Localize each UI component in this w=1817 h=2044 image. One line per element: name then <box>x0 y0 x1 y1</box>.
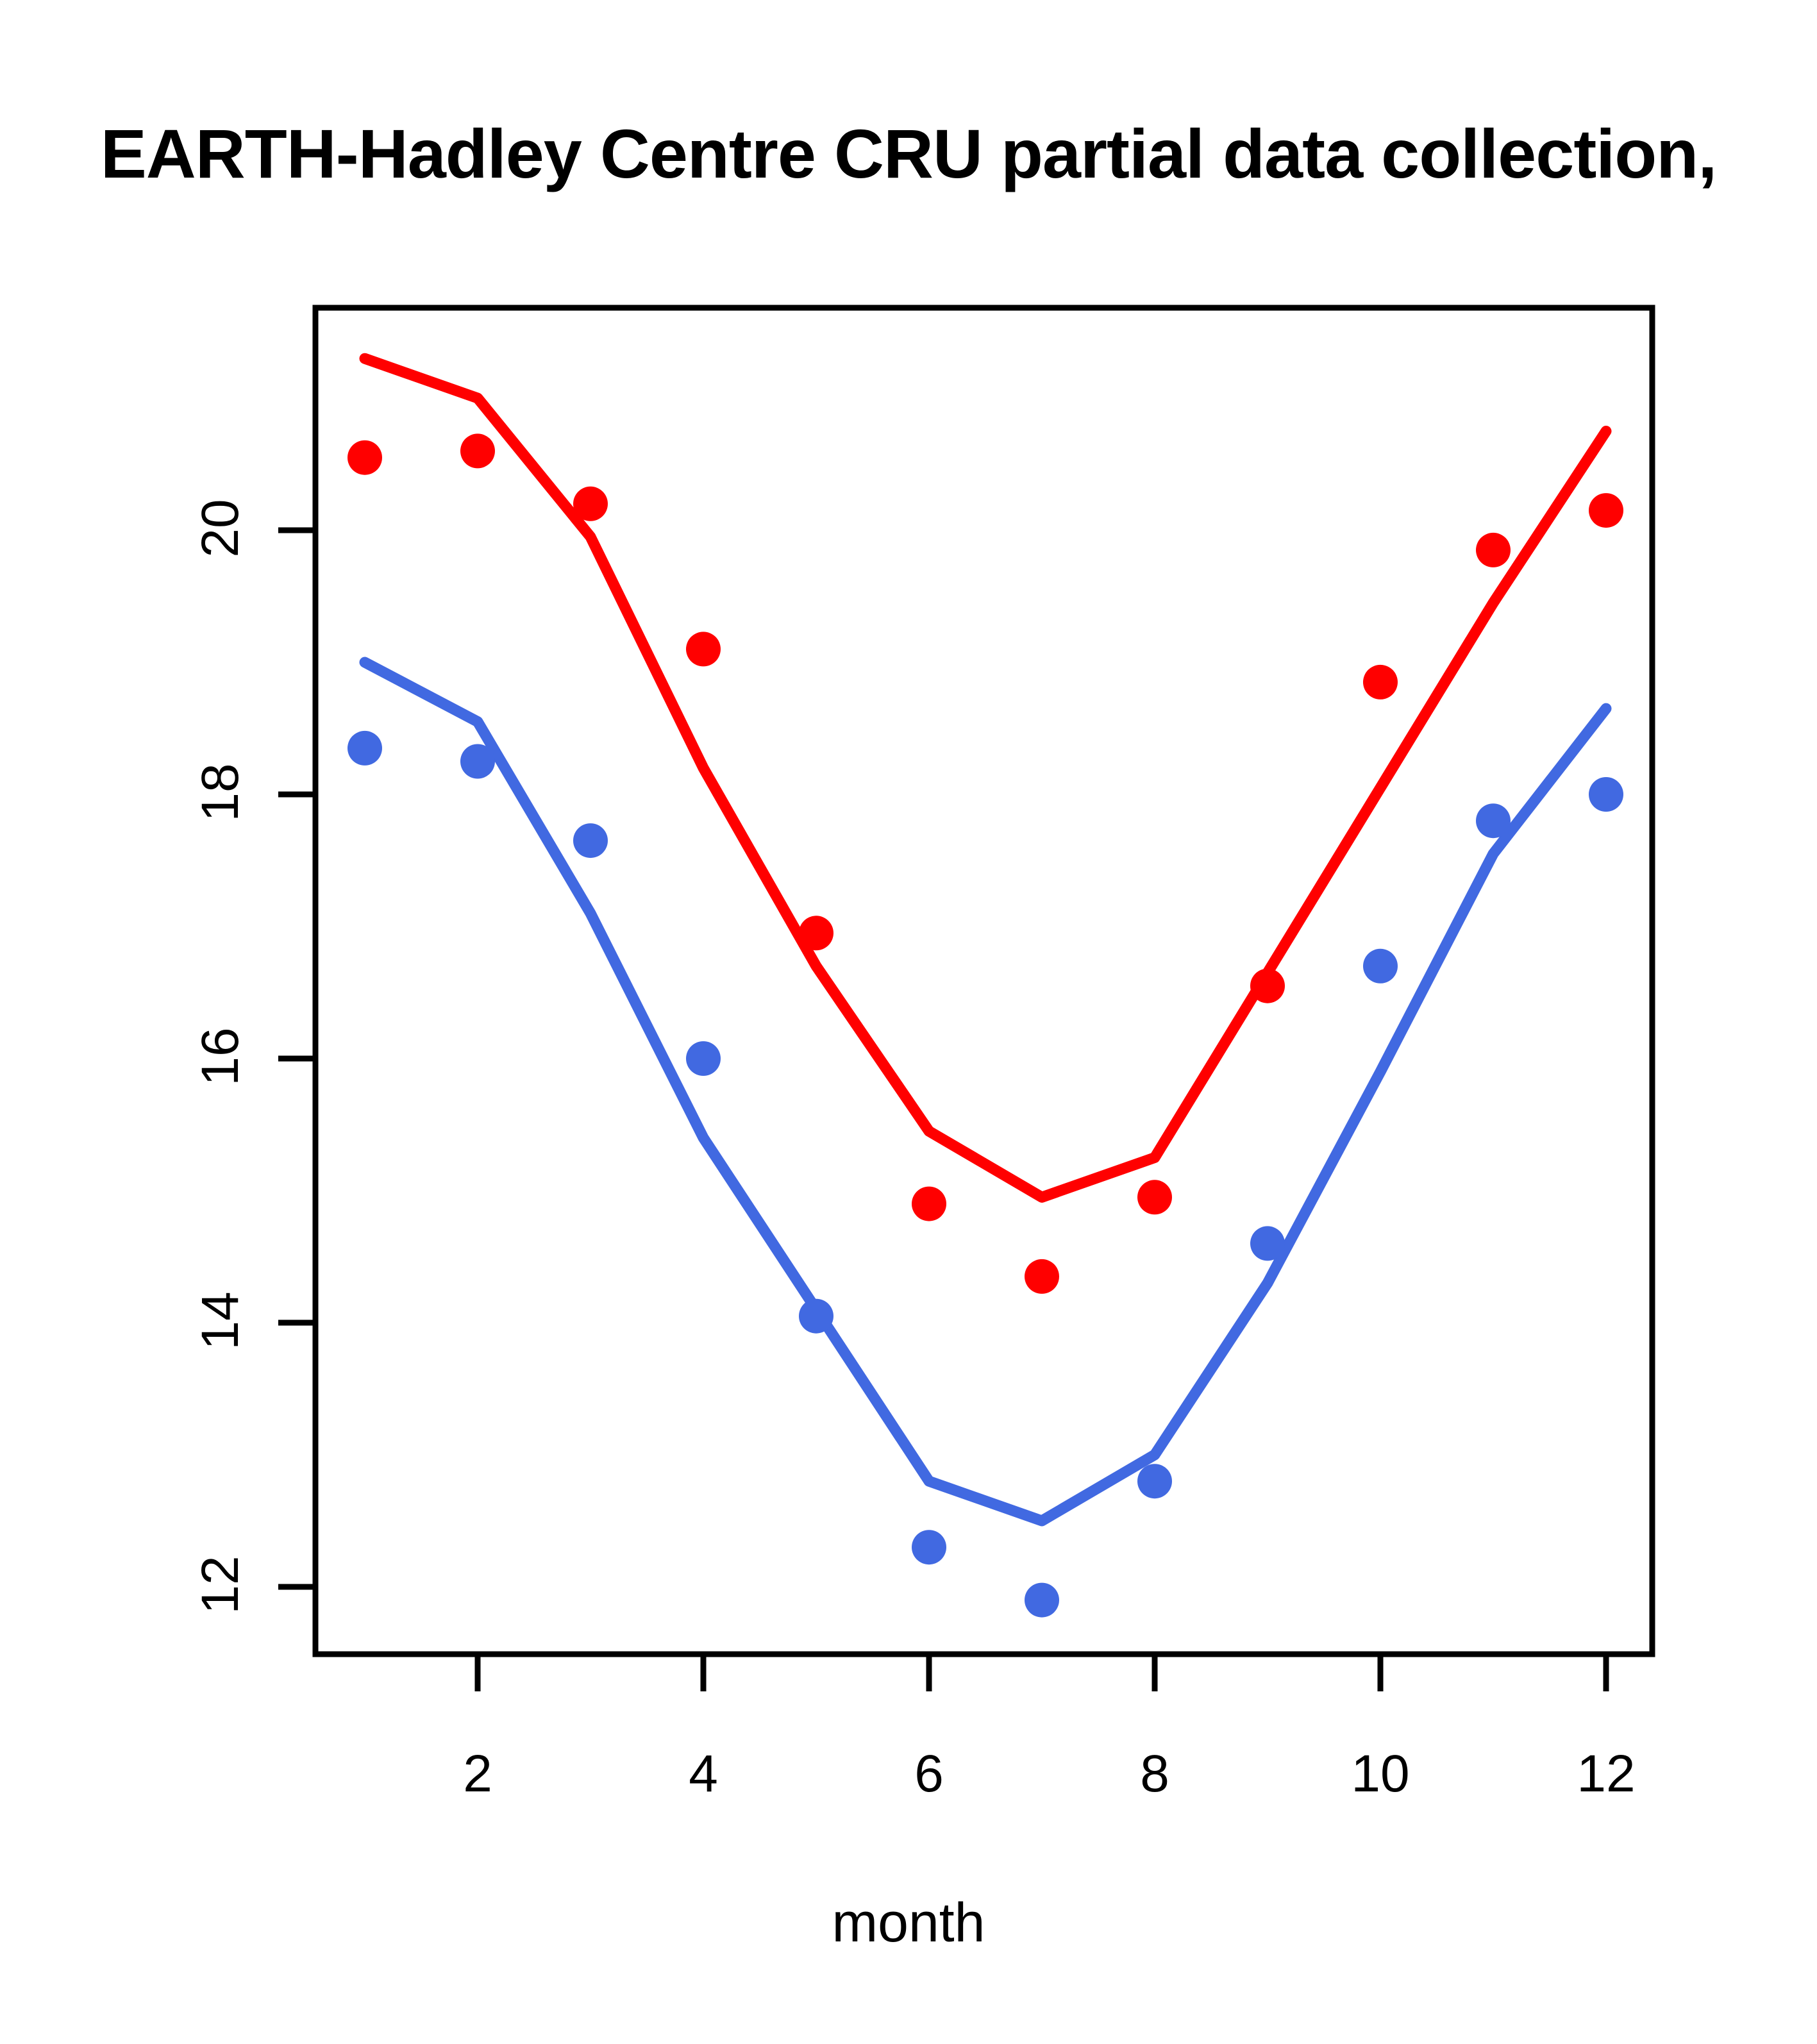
plot-frame <box>315 308 1652 1654</box>
data-point <box>347 440 382 475</box>
data-point <box>912 1187 946 1221</box>
data-point <box>686 1041 721 1076</box>
data-point <box>1476 533 1511 567</box>
data-point <box>1250 1226 1285 1261</box>
x-tick-label: 6 <box>852 1744 1006 1804</box>
data-point <box>1025 1259 1059 1294</box>
y-axis-ticks <box>278 530 315 1587</box>
data-point <box>347 731 382 766</box>
series-lines <box>365 358 1606 1521</box>
data-point <box>1250 969 1285 1003</box>
data-point <box>912 1530 946 1564</box>
y-tick-label: 20 <box>190 471 251 586</box>
series-line-blue-line <box>365 662 1606 1521</box>
data-point <box>686 632 721 666</box>
x-axis-title: month <box>0 1891 1817 1955</box>
data-point <box>1589 777 1623 812</box>
data-point <box>460 744 495 779</box>
data-point <box>1137 1180 1172 1214</box>
data-point <box>573 823 608 858</box>
chart-page: EARTH-Hadley Centre CRU partial data col… <box>0 0 1817 2044</box>
data-point <box>460 433 495 468</box>
plot-canvas <box>0 0 1817 2044</box>
x-tick-label: 2 <box>401 1744 555 1804</box>
data-point <box>799 916 833 950</box>
series-points <box>347 433 1623 1617</box>
x-axis-ticks <box>478 1654 1606 1691</box>
y-tick-label: 16 <box>190 999 251 1114</box>
series-line-red-line <box>365 358 1606 1197</box>
data-point <box>573 487 608 521</box>
y-tick-label: 18 <box>190 735 251 850</box>
plot-area: 1214161820 24681012 <box>0 0 1817 2044</box>
data-point <box>1363 665 1398 699</box>
x-tick-label: 8 <box>1078 1744 1232 1804</box>
data-point <box>1476 803 1511 838</box>
y-tick-label: 14 <box>190 1263 251 1378</box>
x-tick-label: 10 <box>1303 1744 1457 1804</box>
x-tick-label: 4 <box>626 1744 780 1804</box>
data-point <box>799 1299 833 1334</box>
data-point <box>1137 1464 1172 1498</box>
y-tick-label: 12 <box>190 1527 251 1643</box>
x-tick-label: 12 <box>1529 1744 1683 1804</box>
data-point <box>1589 493 1623 528</box>
data-point <box>1363 949 1398 984</box>
data-point <box>1025 1583 1059 1618</box>
